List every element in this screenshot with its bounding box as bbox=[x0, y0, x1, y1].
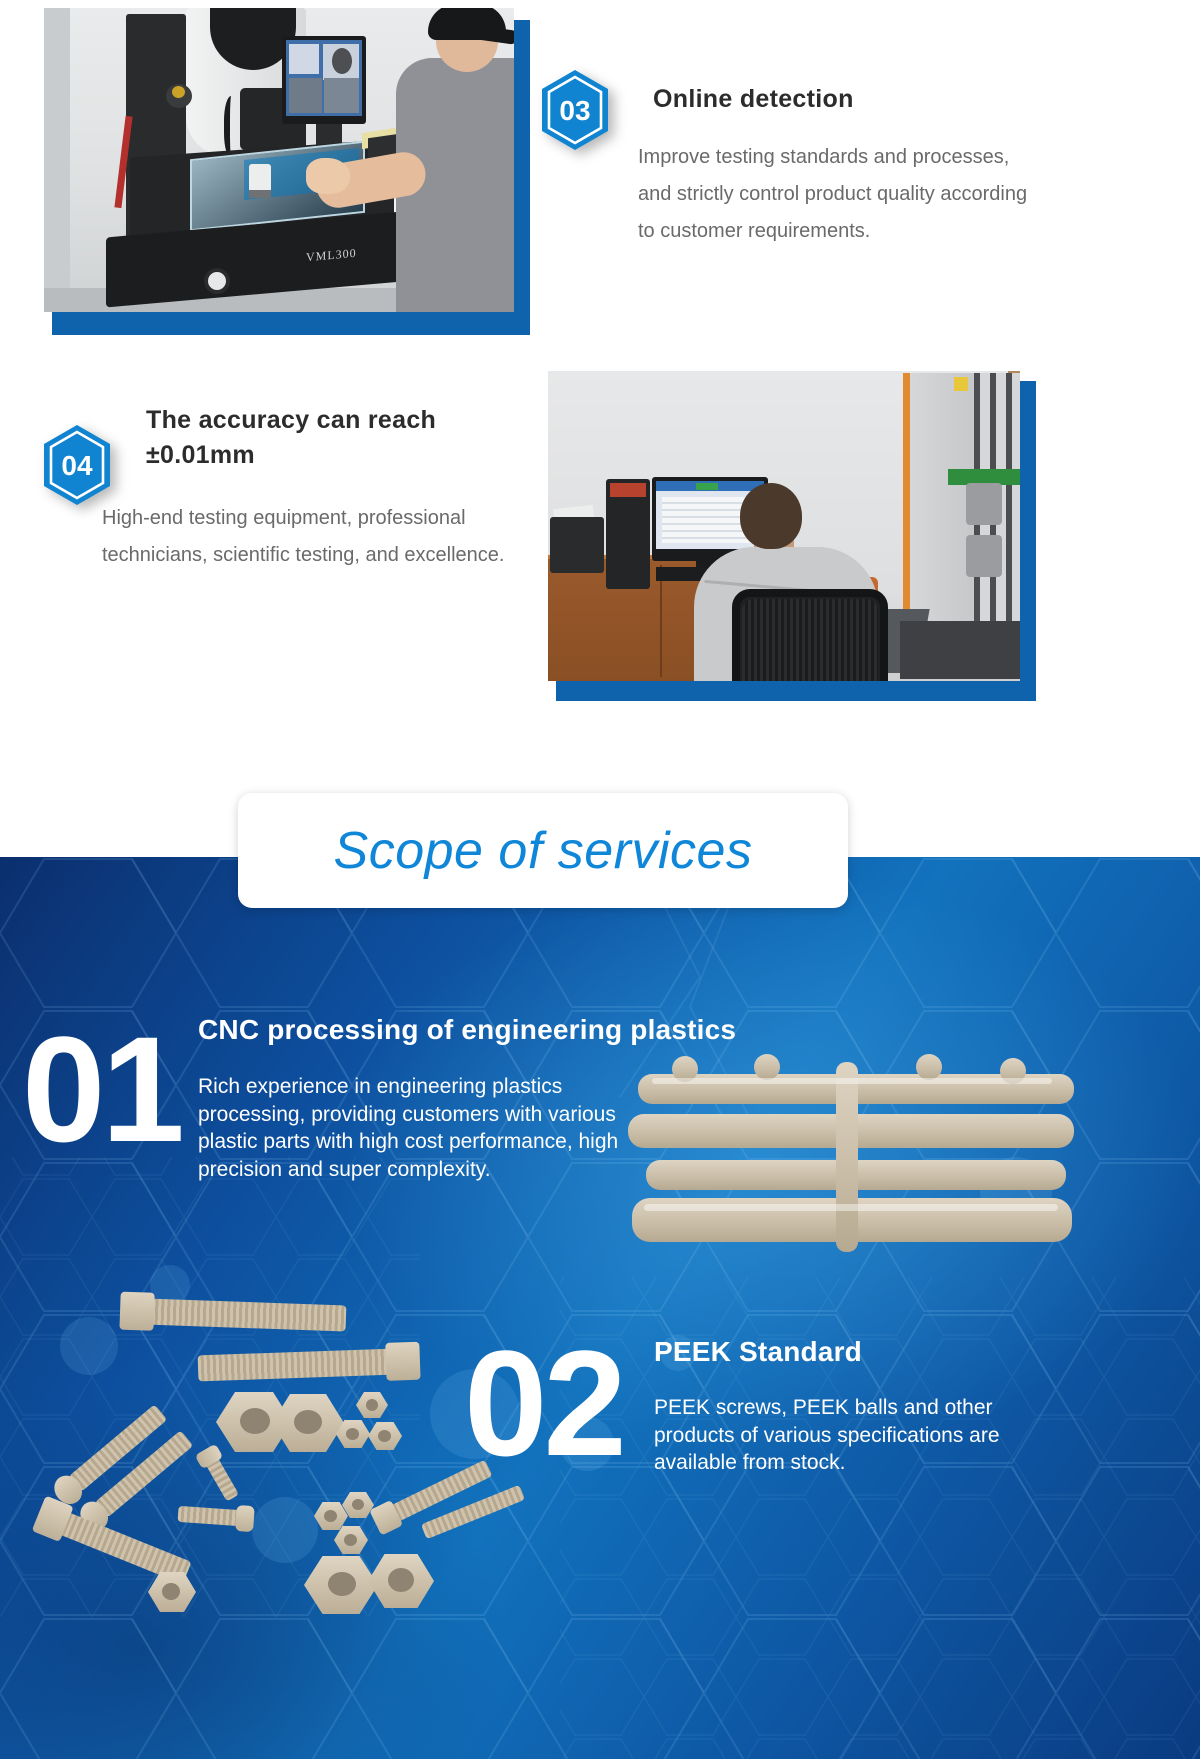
badge-number-03: 03 bbox=[559, 95, 590, 126]
features-section: VML300 03 Online detection Improve testi… bbox=[0, 0, 1200, 857]
accuracy-photo bbox=[548, 371, 1028, 691]
badge-number-04: 04 bbox=[61, 450, 93, 481]
feature-title-04: The accuracy can reach ±0.01mm bbox=[146, 403, 546, 473]
feature-title-03: Online detection bbox=[653, 82, 1053, 117]
service-number-01: 01 bbox=[22, 1020, 181, 1158]
photo-image-tensile-tester bbox=[548, 371, 1020, 681]
scope-banner-card: Scope of services bbox=[238, 793, 848, 908]
service-number-02: 02 bbox=[464, 1334, 623, 1472]
feature-body-04: High-end testing equipment, professional… bbox=[102, 500, 532, 574]
service-title-01: CNC processing of engineering plastics bbox=[198, 1014, 958, 1046]
product-image-peek-fasteners bbox=[28, 1286, 498, 1606]
product-image-peek-chain bbox=[628, 1048, 1080, 1288]
hexagon-badge-icon: 03 bbox=[538, 68, 612, 152]
photo-image-measuring-machine: VML300 bbox=[44, 8, 514, 312]
service-title-02: PEEK Standard bbox=[654, 1336, 1074, 1368]
marketing-page: VML300 03 Online detection Improve testi… bbox=[0, 0, 1200, 1759]
hexagon-badge-icon: 04 bbox=[40, 423, 114, 507]
scope-banner-title: Scope of services bbox=[334, 821, 753, 881]
service-body-01: Rich experience in engineering plastics … bbox=[198, 1073, 630, 1184]
feature-body-03: Improve testing standards and processes,… bbox=[638, 139, 1048, 250]
service-body-02: PEEK screws, PEEK balls and other produc… bbox=[654, 1394, 1058, 1477]
online-detection-photo: VML300 bbox=[44, 8, 522, 323]
